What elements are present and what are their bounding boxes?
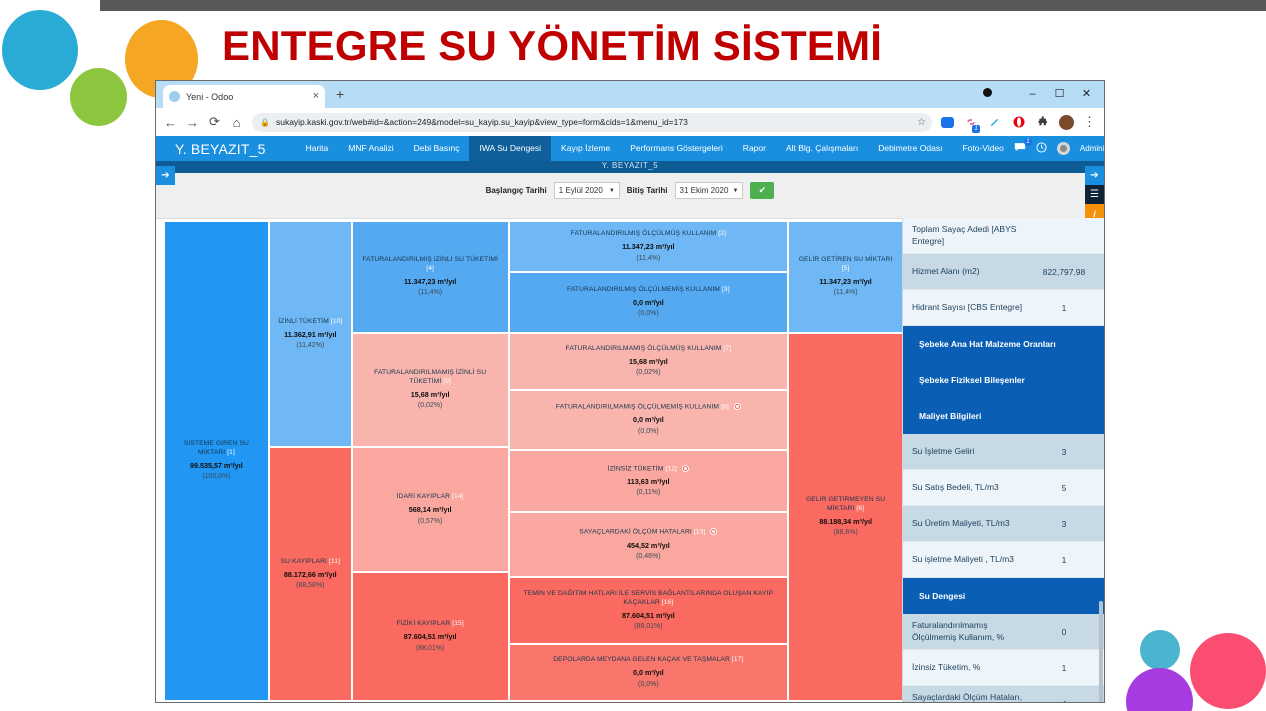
- settings-gear-icon[interactable]: [682, 465, 689, 472]
- user-avatar[interactable]: [1057, 142, 1070, 155]
- reload-icon[interactable]: ⟳: [208, 114, 221, 130]
- cell-value: 87.604,51 m³/yıl: [622, 611, 675, 621]
- panel-menu-button[interactable]: ☰: [1085, 185, 1104, 204]
- extension-link-icon[interactable]: 1: [963, 115, 978, 130]
- extensions-puzzle-icon[interactable]: [1035, 115, 1050, 130]
- browser-toolbar: ← → ⟳ ⌂ 🔒 sukayip.kaski.gov.tr/web#id=&a…: [156, 108, 1104, 136]
- cell-label: SAYAÇLARDAKİ ÖLÇÜM HATALARI [13]: [579, 528, 717, 537]
- filter-toolbar: Başlangıç Tarihi 1 Eylül 2020 ▼ Bitiş Ta…: [156, 173, 1104, 219]
- settings-gear-icon[interactable]: [710, 528, 717, 535]
- cell-value: 88.188,34 m³/yıl: [819, 517, 872, 527]
- slide-canvas: ENTEGRE SU YÖNETİM SİSTEMİ Yeni - Odoo ×…: [0, 0, 1266, 711]
- treemap-cell-14[interactable]: İDARİ KAYIPLAR [14] 568,14 m³/yıl (0,57%…: [353, 448, 508, 571]
- app-navbar: Y. BEYAZIT_5 Harita MNF Analizi Debi Bas…: [156, 136, 1104, 161]
- panel-row-key: Hidrant Sayısı [CBS Entegre]: [912, 302, 1033, 313]
- cell-value: 88.172,66 m³/yıl: [284, 570, 337, 580]
- cell-label: GELİR GETİRMEYEN SU MİKTARI [6]: [794, 496, 897, 514]
- close-window-button[interactable]: ✕: [1073, 85, 1100, 103]
- panel-row-value: 4: [1033, 699, 1095, 703]
- new-tab-button[interactable]: +: [336, 87, 344, 101]
- cell-value: 0,0 m³/yıl: [633, 668, 664, 678]
- cell-value: 568,14 m³/yıl: [409, 505, 452, 515]
- cell-percent: (11,4%): [418, 288, 442, 297]
- cell-value: 0,0 m³/yıl: [633, 415, 664, 425]
- url-text: sukayip.kaski.gov.tr/web#id=&action=249&…: [276, 117, 688, 127]
- cell-label: FATURALANDIRILMIŞ ÖLÇÜLMEMİŞ KULLANIM [3…: [567, 286, 730, 295]
- cell-label: FATURALANDIRILMIŞ ÖLÇÜLMÜŞ KULLANIM [2]: [571, 230, 726, 239]
- cell-label: GELİR GETİREN SU MİKTARI [5]: [794, 256, 897, 274]
- cell-percent: (0,11%): [636, 488, 660, 497]
- cell-value: 11.347,23 m³/yıl: [622, 242, 674, 252]
- treemap-column-4: FATURALANDIRILMIŞ ÖLÇÜLMÜŞ KULLANIM [2] …: [510, 222, 788, 700]
- panel-row-value: 3: [1033, 519, 1095, 529]
- treemap-cell-2[interactable]: FATURALANDIRILMIŞ ÖLÇÜLMÜŞ KULLANIM [2] …: [510, 222, 788, 271]
- treemap-column-3: FATURALANDIRILMIŞ İZİNLİ SU TÜKETİMİ [4]…: [353, 222, 508, 700]
- panel-header-sebeke-fiziksel[interactable]: Şebeke Fiziksel Bileşenler: [903, 362, 1104, 398]
- decorative-top-bar: [100, 0, 1266, 11]
- cell-label: SİSTEME GİREN SU MİKTARI [1]: [170, 440, 263, 458]
- cell-value: 87.604,51 m³/yıl: [404, 632, 457, 642]
- panel-row-sayaclardaki-olcum-hatalari[interactable]: Sayaçlardaki Ölçüm Hataları, % 4: [903, 686, 1104, 702]
- maximize-button[interactable]: ☐: [1046, 85, 1073, 103]
- forward-icon[interactable]: →: [186, 115, 199, 130]
- cell-label: SU KAYIPLARI [11]: [281, 558, 340, 567]
- treemap-column-2: İZİNLİ TÜKETİM [10] 11.362,91 m³/yıl (11…: [270, 222, 351, 700]
- treemap-cell-9[interactable]: FATURALANDIRILMAMIŞ İZİNLİ SU TÜKETİMİ […: [353, 334, 508, 446]
- page-title: ENTEGRE SU YÖNETİM SİSTEMİ: [222, 22, 882, 70]
- window-controls: – ☐ ✕: [1019, 85, 1100, 103]
- decorative-circle-pink: [1190, 633, 1266, 709]
- nav-item-alt-blg[interactable]: Alt Blg. Çalışmaları: [776, 136, 868, 161]
- cell-percent: (88,01%): [634, 622, 662, 631]
- nav-item-harita[interactable]: Harita: [296, 136, 339, 161]
- decorative-circle-teal: [1140, 630, 1180, 670]
- expand-left-panel-button[interactable]: ➔: [156, 166, 175, 185]
- apply-filter-button[interactable]: ✔: [750, 182, 774, 199]
- cell-percent: (0,02%): [636, 368, 661, 377]
- panel-row-key: Toplam Sayaç Adedi [ABYS Entegre]: [912, 224, 1033, 247]
- messages-icon[interactable]: 1: [1014, 142, 1026, 155]
- tab-search-icon[interactable]: [983, 88, 992, 97]
- end-date-value: 31 Ekim 2020: [680, 186, 729, 195]
- home-icon[interactable]: ⌂: [230, 115, 243, 130]
- panel-row-key: Su Satış Bedeli, TL/m3: [912, 482, 1033, 493]
- treemap-cell-8[interactable]: FATURALANDIRILMAMIŞ ÖLÇÜLMEMİŞ KULLANIM …: [510, 391, 788, 449]
- cell-label: FATURALANDIRILMAMIŞ ÖLÇÜLMEMİŞ KULLANIM …: [556, 403, 741, 412]
- chrome-menu-icon[interactable]: ⋮: [1083, 114, 1096, 130]
- address-bar[interactable]: 🔒 sukayip.kaski.gov.tr/web#id=&action=24…: [252, 113, 932, 132]
- panel-row-value: 1: [1033, 663, 1095, 673]
- back-icon[interactable]: ←: [164, 115, 177, 130]
- close-tab-icon[interactable]: ×: [313, 91, 319, 102]
- cell-label: İDARİ KAYIPLAR [14]: [397, 493, 464, 502]
- treemap-cell-11[interactable]: SU KAYIPLARI [11] 88.172,66 m³/yıl (88,5…: [270, 448, 351, 700]
- treemap-cell-7[interactable]: FATURALANDIRILMAMIŞ ÖLÇÜLMÜŞ KULLANIM [7…: [510, 334, 788, 389]
- cell-percent: (88,6%): [833, 528, 858, 537]
- treemap-cell-12[interactable]: İZİNSİZ TÜKETİM [12] 113,63 m³/yıl (0,11…: [510, 451, 788, 512]
- bookmark-star-icon[interactable]: ☆: [917, 117, 926, 128]
- nav-item-foto-video[interactable]: Foto-Video: [952, 136, 1013, 161]
- treemap-cell-17[interactable]: DEPOLARDA MEYDANA GELEN KAÇAK VE TAŞMALA…: [510, 645, 788, 700]
- decorative-circle-green: [70, 68, 127, 126]
- cell-percent: (11,4%): [636, 254, 660, 263]
- panel-group-network: Şebeke Ana Hat Malzeme Oranları Şebeke F…: [903, 326, 1104, 434]
- end-date-label: Bitiş Tarihi: [627, 186, 668, 195]
- extension-opera-icon[interactable]: [1011, 115, 1026, 130]
- chevron-down-icon: ▼: [609, 188, 615, 194]
- panel-row-key: İzinsiz Tüketim, %: [912, 662, 1033, 673]
- extension-pen-icon[interactable]: [987, 115, 1002, 130]
- cell-value: 11.362,91 m³/yıl: [284, 330, 336, 340]
- cell-percent: (0,0%): [638, 309, 659, 318]
- info-panel-scroll[interactable]: Toplam Sayaç Adedi [ABYS Entegre] Hizmet…: [903, 218, 1104, 702]
- panel-header-sebeke-ana-hat[interactable]: Şebeke Ana Hat Malzeme Oranları: [903, 326, 1104, 362]
- nav-item-mnf-analizi[interactable]: MNF Analizi: [338, 136, 403, 161]
- cell-label: DEPOLARDA MEYDANA GELEN KAÇAK VE TAŞMALA…: [553, 656, 743, 665]
- panel-header-su-dengesi[interactable]: Su Dengesi: [903, 578, 1104, 614]
- cell-value: 11.347,23 m³/yıl: [819, 277, 871, 287]
- treemap-column-1: SİSTEME GİREN SU MİKTARI [1] 99.535,57 m…: [165, 222, 268, 700]
- browser-window: Yeni - Odoo × + – ☐ ✕ ← → ⟳ ⌂ 🔒 sukayip.…: [155, 80, 1105, 703]
- main-content: SİSTEME GİREN SU MİKTARI [1] 99.535,57 m…: [156, 218, 1104, 702]
- treemap-cell-10[interactable]: İZİNLİ TÜKETİM [10] 11.362,91 m³/yıl (11…: [270, 222, 351, 446]
- cell-percent: (0,57%): [418, 517, 443, 526]
- cell-value: 99.535,57 m³/yıl: [190, 461, 243, 471]
- messages-badge: 1: [1024, 138, 1032, 146]
- cell-value: 11.347,23 m³/yıl: [404, 277, 456, 287]
- nav-item-kayip-izleme[interactable]: Kayıp İzleme: [551, 136, 620, 161]
- cell-value: 0,0 m³/yıl: [633, 298, 664, 308]
- panel-row-izinsiz-tuketim[interactable]: İzinsiz Tüketim, % 1: [903, 650, 1104, 686]
- panel-row-value: 822,797.98: [1033, 267, 1095, 277]
- start-date-value: 1 Eylül 2020: [559, 186, 603, 195]
- cell-label: İZİNSİZ TÜKETİM [12]: [608, 465, 689, 474]
- panel-row-key: Su İşletme Geliri: [912, 446, 1033, 457]
- panel-row-su-isletme-maliyeti[interactable]: Su işletme Maliyeti , TL/m3 1: [903, 542, 1104, 578]
- cell-label: TEMİN VE DAĞITIM HATLARI İLE SERVİS BAĞL…: [515, 590, 783, 608]
- favicon-icon: [169, 91, 180, 102]
- treemap-cell-6[interactable]: GELİR GETİRMEYEN SU MİKTARI [6] 88.188,3…: [789, 334, 902, 700]
- nav-item-iwa-su-dengesi[interactable]: IWA Su Dengesi: [469, 136, 551, 161]
- treemap-column-5: GELİR GETİREN SU MİKTARI [5] 11.347,23 m…: [789, 222, 902, 700]
- tab-title: Yeni - Odoo: [186, 92, 307, 102]
- cell-percent: (0,46%): [636, 552, 661, 561]
- water-balance-treemap: SİSTEME GİREN SU MİKTARI [1] 99.535,57 m…: [156, 218, 902, 703]
- extension-chat-icon[interactable]: [941, 117, 954, 128]
- panel-row-value: 0: [1033, 627, 1095, 637]
- panel-row-key: Faturalandırılmamış Ölçülmemiş Kullanım,…: [912, 620, 1033, 643]
- cell-percent: (0,02%): [418, 401, 443, 410]
- panel-header-maliyet-bilgileri[interactable]: Maliyet Bilgileri: [903, 398, 1104, 434]
- breadcrumb-text: Y. BEYAZIT_5: [602, 161, 658, 170]
- panel-row-toplam-sayac[interactable]: Toplam Sayaç Adedi [ABYS Entegre]: [903, 218, 1104, 254]
- nav-item-rapor[interactable]: Rapor: [733, 136, 776, 161]
- panel-row-hizmet-alani[interactable]: Hizmet Alanı (m2) 822,797.98: [903, 254, 1104, 290]
- check-icon: ✔: [759, 185, 767, 196]
- minimize-button[interactable]: –: [1019, 85, 1046, 103]
- user-name[interactable]: Administrator: [1080, 144, 1105, 153]
- navbar-right-cluster: 1 Administrator: [1014, 142, 1105, 155]
- treemap-cell-15[interactable]: FİZİKİ KAYIPLAR [15] 87.604,51 m³/yıl (8…: [353, 573, 508, 700]
- end-date-select[interactable]: 31 Ekim 2020 ▼: [675, 182, 744, 199]
- panel-scrollbar[interactable]: [1099, 601, 1103, 703]
- cell-label: FİZİKİ KAYIPLAR [15]: [396, 620, 463, 629]
- panel-row-value: 1: [1033, 555, 1095, 565]
- start-date-label: Başlangıç Tarihi: [486, 186, 547, 195]
- expand-right-panel-button[interactable]: ➔: [1085, 166, 1104, 185]
- chevron-down-icon: ▼: [732, 188, 738, 194]
- panel-row-key: Su Üretim Maliyeti, TL/m3: [912, 518, 1033, 529]
- panel-row-su-isletme-geliri[interactable]: Su İşletme Geliri 3: [903, 434, 1104, 470]
- extension-badge: 1: [972, 125, 980, 133]
- treemap-cell-3[interactable]: FATURALANDIRILMIŞ ÖLÇÜLMEMİŞ KULLANIM [3…: [510, 273, 788, 332]
- panel-row-faturalandirilmamis-olculmemis[interactable]: Faturalandırılmamış Ölçülmemiş Kullanım,…: [903, 614, 1104, 650]
- cell-percent: (11,4%): [834, 288, 858, 297]
- panel-row-value: 5: [1033, 483, 1095, 493]
- decorative-circle-blue: [2, 10, 78, 90]
- apps-grid-icon[interactable]: [164, 143, 166, 154]
- nav-item-debimetre-odasi[interactable]: Debimetre Odası: [868, 136, 952, 161]
- cell-percent: (0,0%): [638, 427, 659, 436]
- info-panel: Toplam Sayaç Adedi [ABYS Entegre] Hizmet…: [902, 218, 1104, 702]
- nav-item-debi-basinc[interactable]: Debi Basınç: [404, 136, 470, 161]
- panel-row-su-satis-bedeli[interactable]: Su Satış Bedeli, TL/m3 5: [903, 470, 1104, 506]
- cell-value: 15,68 m³/yıl: [411, 390, 450, 400]
- app-brand[interactable]: Y. BEYAZIT_5: [175, 141, 266, 157]
- activities-clock-icon[interactable]: [1036, 142, 1047, 155]
- panel-row-value: 3: [1033, 447, 1095, 457]
- nav-item-performans[interactable]: Performans Göstergeleri: [620, 136, 733, 161]
- treemap-cell-1[interactable]: SİSTEME GİREN SU MİKTARI [1] 99.535,57 m…: [165, 222, 268, 700]
- panel-row-hidrant-sayisi[interactable]: Hidrant Sayısı [CBS Entegre] 1: [903, 290, 1104, 326]
- cell-percent: (0,0%): [638, 680, 659, 689]
- breadcrumb: Y. BEYAZIT_5: [156, 161, 1104, 173]
- treemap-cell-4[interactable]: FATURALANDIRILMIŞ İZİNLİ SU TÜKETİMİ [4]…: [353, 222, 508, 332]
- panel-row-key: Su işletme Maliyeti , TL/m3: [912, 554, 1033, 565]
- panel-row-value: 1: [1033, 303, 1095, 313]
- panel-row-su-uretim-maliyeti[interactable]: Su Üretim Maliyeti, TL/m3 3: [903, 506, 1104, 542]
- cell-percent: (88,58%): [296, 581, 324, 590]
- cell-percent: (100,0%): [202, 472, 230, 481]
- browser-tab[interactable]: Yeni - Odoo ×: [163, 85, 325, 108]
- lock-icon: 🔒: [260, 118, 270, 127]
- treemap-cell-5[interactable]: GELİR GETİREN SU MİKTARI [5] 11.347,23 m…: [789, 222, 902, 332]
- cell-value: 113,63 m³/yıl: [627, 477, 669, 487]
- treemap-cell-16[interactable]: TEMİN VE DAĞITIM HATLARI İLE SERVİS BAĞL…: [510, 578, 788, 643]
- cell-value: 454,52 m³/yıl: [627, 541, 670, 551]
- cell-label: FATURALANDIRILMAMIŞ İZİNLİ SU TÜKETİMİ […: [358, 369, 503, 387]
- cell-label: FATURALANDIRILMIŞ İZİNLİ SU TÜKETİMİ [4]: [358, 256, 503, 274]
- cell-label: İZİNLİ TÜKETİM [10]: [278, 318, 342, 327]
- panel-row-key: Sayaçlardaki Ölçüm Hataları, %: [912, 692, 1033, 702]
- cell-label: FATURALANDIRILMAMIŞ ÖLÇÜLMÜŞ KULLANIM [7…: [566, 345, 732, 354]
- chrome-profile-avatar[interactable]: [1059, 115, 1074, 130]
- decorative-circle-purple: [1126, 668, 1193, 711]
- treemap-cell-13[interactable]: SAYAÇLARDAKİ ÖLÇÜM HATALARI [13] 454,52 …: [510, 513, 788, 576]
- panel-row-key: Hizmet Alanı (m2): [912, 266, 1033, 277]
- cell-value: 15,68 m³/yıl: [629, 357, 668, 367]
- cell-percent: (88,01%): [416, 644, 444, 653]
- cell-percent: (11,42%): [296, 341, 324, 350]
- browser-tab-strip: Yeni - Odoo × + – ☐ ✕: [156, 81, 1104, 108]
- settings-gear-icon[interactable]: [734, 403, 741, 410]
- start-date-select[interactable]: 1 Eylül 2020 ▼: [554, 182, 620, 199]
